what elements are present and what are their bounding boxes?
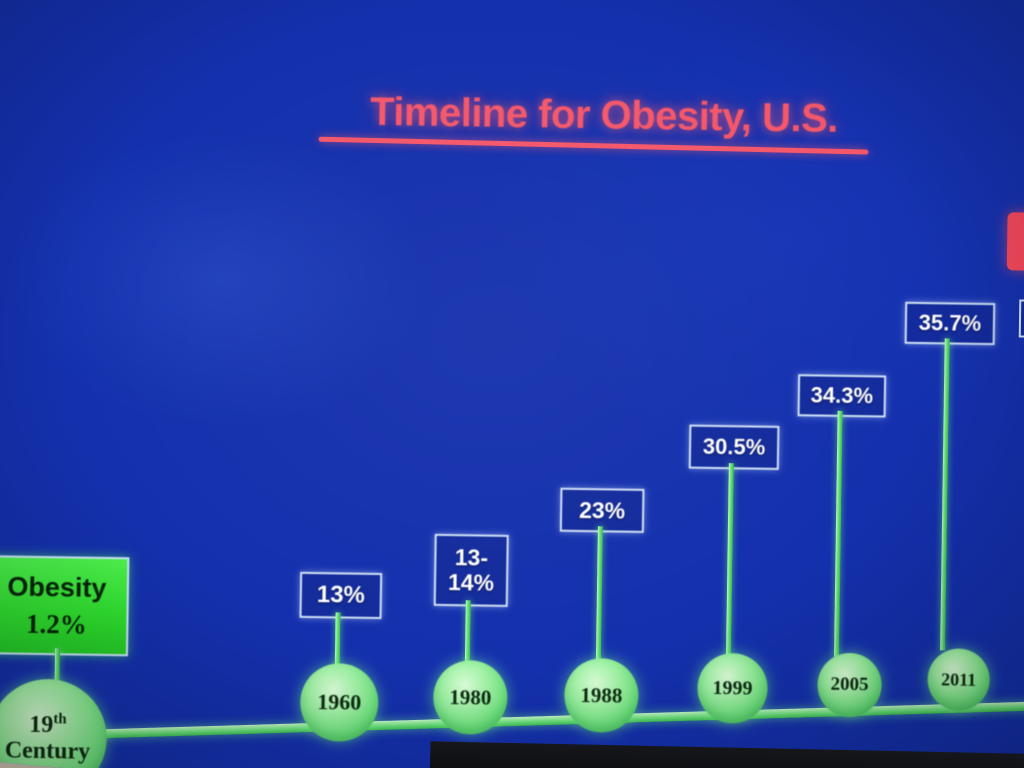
projection-photo: Timeline for Obesity, U.S. Obesity 1.2% … [0,0,1024,768]
screen-vignette [0,0,1024,768]
presentation-screen: Timeline for Obesity, U.S. Obesity 1.2% … [0,0,1024,768]
